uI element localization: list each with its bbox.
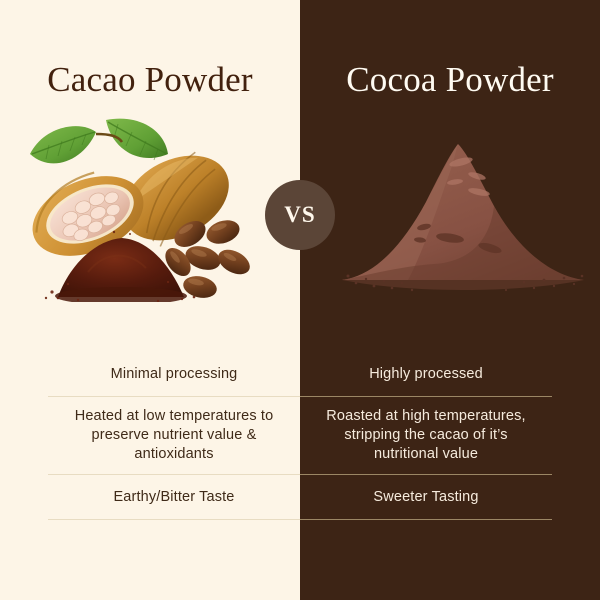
row-divider <box>48 519 300 520</box>
list-item-label: Highly processed <box>369 365 483 384</box>
row-divider <box>300 519 552 520</box>
cacao-leaf-right <box>106 119 168 160</box>
list-item: Earthy/Bitter Taste <box>48 475 300 519</box>
vs-badge: VS <box>265 180 335 250</box>
list-item-label: Earthy/Bitter Taste <box>113 488 234 507</box>
cocoa-powder-mound-illustration <box>338 130 588 305</box>
list-item: Heated at low temperatures to preserve n… <box>48 397 300 474</box>
list-item: Sweeter Tasting <box>300 475 552 519</box>
cacao-pod-beans-powder-illustration <box>18 112 263 302</box>
list-item-label: Heated at low temperatures to preserve n… <box>75 407 274 464</box>
cocoa-attribute-list: Highly processed Roasted at high tempera… <box>300 352 552 520</box>
page-title-cocoa: Cocoa Powder <box>300 60 600 100</box>
list-item-label: Roasted at high temperatures, stripping … <box>326 407 525 464</box>
list-item: Highly processed <box>300 352 552 396</box>
comparison-infographic: Cacao Powder Cocoa Powder VS Minimal pro… <box>0 0 600 600</box>
cacao-leaf-left <box>30 126 96 163</box>
cocoa-mound-body <box>342 144 584 290</box>
list-item: Roasted at high temperatures, stripping … <box>300 397 552 474</box>
list-item-label: Sweeter Tasting <box>373 488 478 507</box>
cacao-attribute-list: Minimal processing Heated at low tempera… <box>48 352 300 520</box>
page-title-cacao: Cacao Powder <box>0 60 300 100</box>
list-item: Minimal processing <box>48 352 300 396</box>
list-item-label: Minimal processing <box>111 365 238 384</box>
